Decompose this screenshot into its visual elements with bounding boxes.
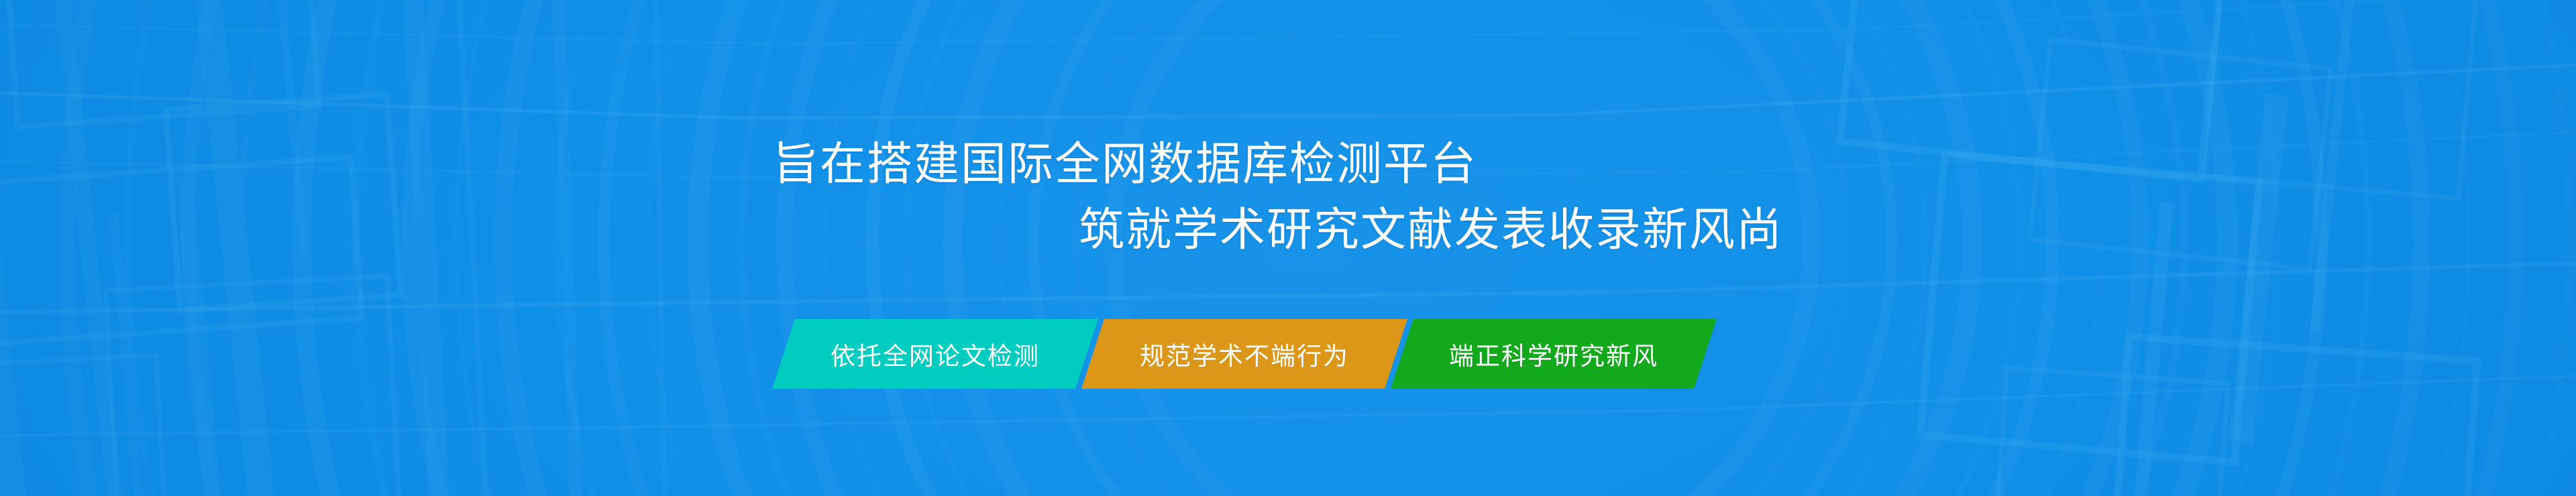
feature-tag-label: 依托全网论文检测 <box>830 336 1040 372</box>
feature-tag-paper-detection[interactable]: 依托全网论文检测 <box>772 319 1098 389</box>
promo-banner: 旨在搭建国际全网数据库检测平台 筑就学术研究文献发表收录新风尚 依托全网论文检测… <box>0 0 2576 496</box>
feature-tag-research-ethos[interactable]: 端正科学研究新风 <box>1391 319 1717 389</box>
feature-tag-misconduct-standard[interactable]: 规范学术不端行为 <box>1081 319 1407 389</box>
headline-line-2: 筑就学术研究文献发表收录新风尚 <box>0 197 2576 263</box>
headline-block: 旨在搭建国际全网数据库检测平台 筑就学术研究文献发表收录新风尚 <box>0 131 2576 263</box>
headline-line-1: 旨在搭建国际全网数据库检测平台 <box>0 131 2576 197</box>
feature-tag-strip: 依托全网论文检测 规范学术不端行为 端正科学研究新风 <box>784 319 1705 389</box>
feature-tag-label: 端正科学研究新风 <box>1449 336 1658 372</box>
feature-tag-label: 规范学术不端行为 <box>1140 336 1349 372</box>
